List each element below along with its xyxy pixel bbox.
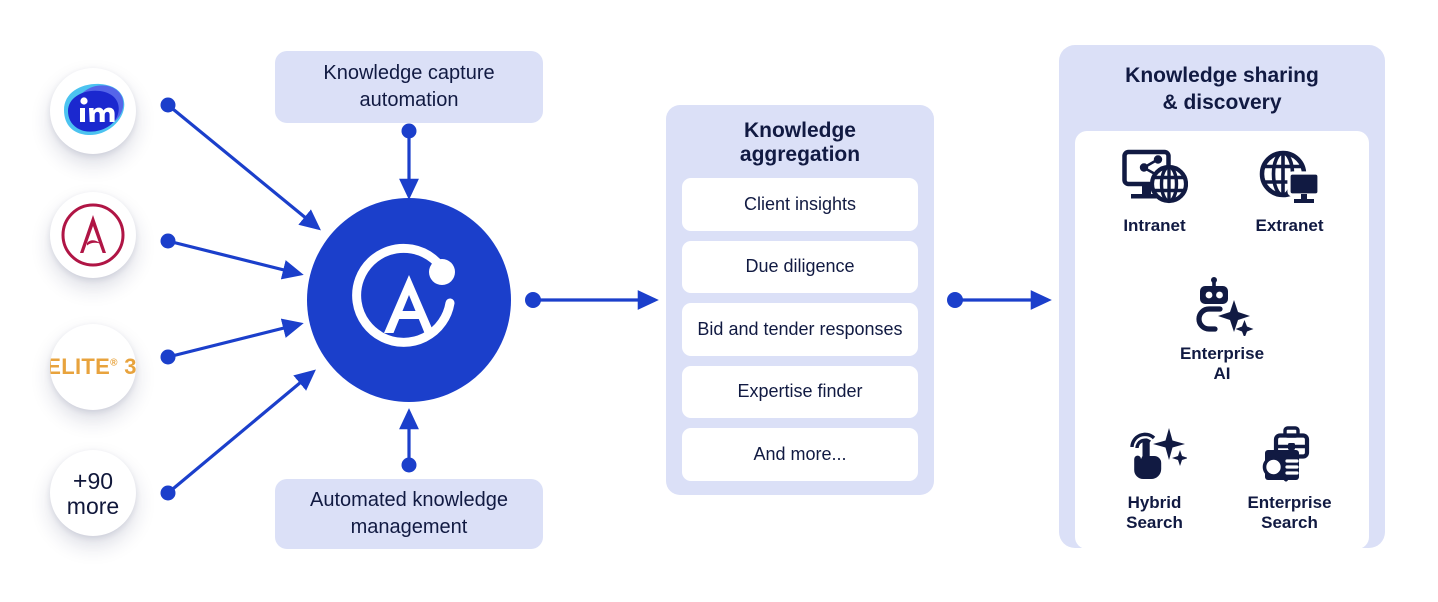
source-bubble-more[interactable]: +90 more <box>50 450 136 536</box>
automated-knowledge-management-box[interactable]: Automated knowledge management <box>275 479 543 549</box>
sharing-row-3: Hybrid Search <box>1087 424 1357 533</box>
source-bubble-elite3e[interactable]: ELITE® 3E <box>50 324 136 410</box>
connector-dot <box>161 486 176 501</box>
more-sources-label: +90 more <box>67 468 119 519</box>
hybrid-search-icon <box>1123 424 1187 486</box>
sharing-tile-enterprise-search[interactable]: Enterprise Search <box>1222 424 1357 533</box>
connector-dot <box>402 124 417 139</box>
extranet-label: Extranet <box>1255 216 1323 236</box>
sharing-tile-enterprise-ai[interactable]: Enterprise AI <box>1152 275 1292 384</box>
knowledge-capture-label: Knowledge capture automation <box>291 60 527 113</box>
imanage-logo-icon <box>58 80 128 142</box>
knowledge-sharing-panel: Knowledge sharing & discovery <box>1059 45 1385 548</box>
intranet-label: Intranet <box>1123 216 1185 236</box>
hub-node[interactable] <box>307 198 511 402</box>
connector-dot <box>402 458 417 473</box>
automated-knowledge-management-label: Automated knowledge management <box>291 487 527 540</box>
elite-3e-wordmark: ELITE® 3E <box>50 354 136 380</box>
connector-source4-to-hub <box>168 372 313 493</box>
assistant-logo-icon <box>346 237 472 363</box>
source-bubble-aderant[interactable] <box>50 192 136 278</box>
enterprise-ai-icon <box>1190 275 1254 337</box>
sharing-title-line2: & discovery <box>1162 91 1281 114</box>
enterprise-search-label: Enterprise Search <box>1247 493 1331 533</box>
connector-source1-to-hub <box>168 105 318 228</box>
aggregation-title: Knowledge aggregation <box>682 119 918 167</box>
connector-dot <box>161 234 176 249</box>
sharing-tiles-container: Intranet Extranet <box>1075 131 1369 549</box>
enterprise-search-icon <box>1258 424 1322 486</box>
connector-dot <box>947 292 963 308</box>
connector-source2-to-hub <box>168 241 300 274</box>
sharing-title-line1: Knowledge sharing <box>1125 64 1319 87</box>
enterprise-ai-label: Enterprise AI <box>1180 344 1264 384</box>
connector-dot <box>161 98 176 113</box>
aggregation-item-client-insights[interactable]: Client insights <box>682 178 918 231</box>
sharing-row-2: Enterprise AI <box>1087 275 1357 384</box>
sharing-tile-extranet[interactable]: Extranet <box>1222 147 1357 236</box>
hybrid-search-label: Hybrid Search <box>1126 493 1183 533</box>
knowledge-aggregation-panel: Knowledge aggregation Client insights Du… <box>666 105 934 495</box>
source-bubble-imanage[interactable] <box>50 68 136 154</box>
knowledge-capture-box[interactable]: Knowledge capture automation <box>275 51 543 123</box>
extranet-icon <box>1257 147 1323 209</box>
sharing-tile-hybrid-search[interactable]: Hybrid Search <box>1087 424 1222 533</box>
intranet-icon <box>1122 147 1188 209</box>
connector-source3-to-hub <box>168 324 300 357</box>
sharing-title: Knowledge sharing & discovery <box>1075 63 1369 117</box>
aggregation-item-and-more[interactable]: And more... <box>682 428 918 481</box>
aggregation-item-due-diligence[interactable]: Due diligence <box>682 241 918 294</box>
sharing-tile-intranet[interactable]: Intranet <box>1087 147 1222 236</box>
aggregation-item-expertise-finder[interactable]: Expertise finder <box>682 366 918 419</box>
aderant-logo-icon <box>57 199 129 271</box>
aggregation-item-bid-and-tender-responses[interactable]: Bid and tender responses <box>682 303 918 356</box>
sharing-row-1: Intranet Extranet <box>1087 147 1357 236</box>
connector-dot <box>161 350 176 365</box>
connector-dot <box>525 292 541 308</box>
diagram-canvas: ELITE® 3E +90 more Knowledge capture aut… <box>0 0 1438 602</box>
